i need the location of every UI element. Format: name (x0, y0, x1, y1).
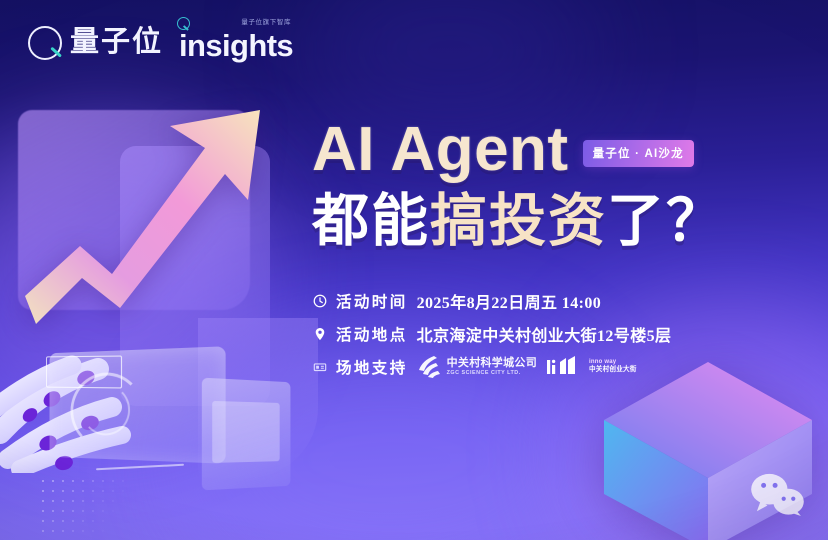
brand-bar: 量子位 量子位旗下智库 insights (28, 24, 293, 61)
info-label-venue: 场地支持 (336, 356, 408, 378)
title-row: AI Agent 量子位 · AI沙龙 (312, 118, 816, 181)
event-poster: 量子位 量子位旗下智库 insights (0, 0, 828, 540)
sponsor-name-cn: 中关村科学城公司 (447, 358, 537, 369)
qbitai-logo[interactable]: 量子位 (28, 26, 163, 60)
page-title-cn: 都能搞投资了？ (312, 191, 816, 253)
insights-sub-label: 量子位旗下智库 (241, 16, 291, 26)
info-label-place: 活动地点 (336, 323, 408, 345)
info-row-time: 活动时间 2025年8月22日周五 14:00 (312, 289, 816, 313)
hud-frame-icon (46, 356, 122, 389)
sponsor-logos: 中关村科学城公司 ZGC SCIENCE CITY LTD. (417, 355, 637, 379)
innoway-name-en: inno way (589, 359, 637, 365)
title-cn-part1: 都能 (312, 189, 430, 253)
title-cn-part2: 搞投资 (430, 189, 607, 253)
q-small-icon (177, 17, 190, 30)
brand-name-cn: 量子位 (70, 28, 163, 57)
clock-icon (312, 293, 327, 308)
info-row-venue: 场地支持 中关村科学城公司 ZGC SCIENCE CITY (312, 355, 816, 379)
insights-logo[interactable]: 量子位旗下智库 insights (179, 24, 293, 61)
content-column: AI Agent 量子位 · AI沙龙 都能搞投资了？ 活动时间 2025年8月… (312, 118, 816, 379)
hero-illustration (0, 88, 320, 540)
info-label-time: 活动时间 (336, 290, 408, 312)
innoway-name-cn: 中关村创业大街 (589, 367, 637, 374)
dot-grid-icon (38, 476, 130, 540)
innoway-icon (546, 356, 586, 378)
insights-label: insights (179, 30, 293, 61)
hud-panel-secondary-icon (202, 378, 291, 491)
status-badge: 量子位 · AI沙龙 (583, 140, 694, 167)
event-info: 活动时间 2025年8月22日周五 14:00 活动地点 北京海淀中关村创业大街… (312, 289, 816, 379)
building-icon (312, 359, 327, 374)
sponsor-innoway[interactable]: inno way 中关村创业大街 (546, 356, 637, 378)
zgc-swirl-icon (417, 355, 443, 379)
map-pin-icon (312, 326, 327, 341)
sponsor-zgc-science-city[interactable]: 中关村科学城公司 ZGC SCIENCE CITY LTD. (417, 355, 537, 379)
page-title-en: AI Agent (312, 118, 569, 181)
wechat-icon (748, 472, 806, 516)
sponsor-name-en: ZGC SCIENCE CITY LTD. (447, 371, 537, 376)
info-value-place: 北京海淀中关村创业大街12号楼5层 (417, 322, 672, 346)
info-row-place: 活动地点 北京海淀中关村创业大街12号楼5层 (312, 322, 816, 346)
info-value-time: 2025年8月22日周五 14:00 (417, 289, 602, 313)
title-cn-part3: 了？ (607, 189, 725, 253)
q-circle-icon (28, 26, 62, 60)
